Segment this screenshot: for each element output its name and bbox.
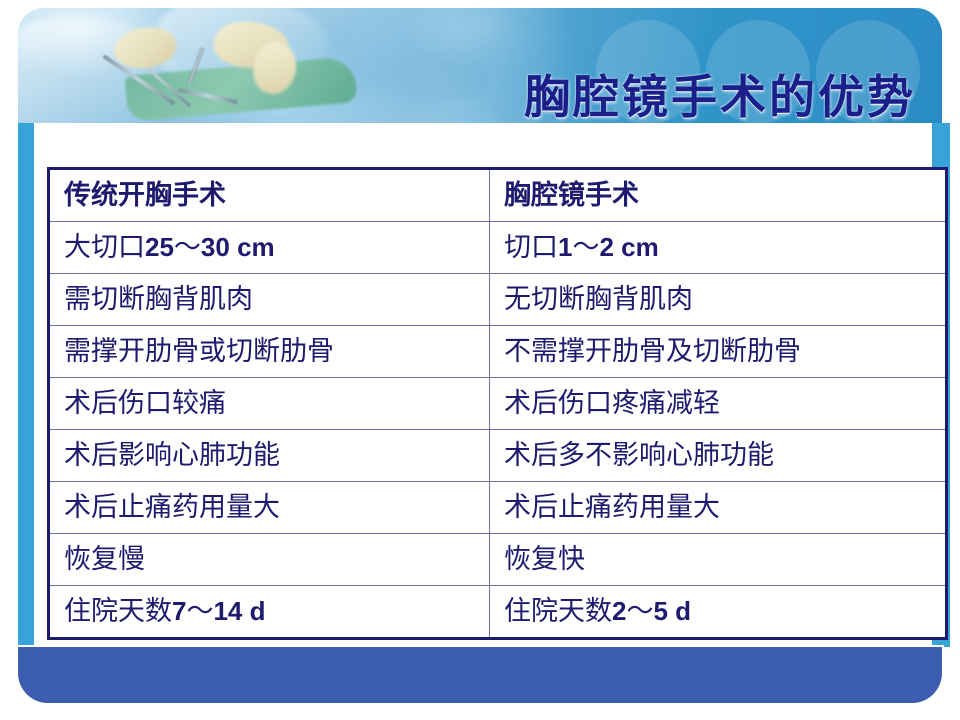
left-accent-strip bbox=[18, 123, 34, 647]
table-row: 术后止痛药用量大 术后止痛药用量大 bbox=[49, 482, 947, 534]
table-row: 术后影响心肺功能 术后多不影响心肺功能 bbox=[49, 430, 947, 482]
table-row: 住院天数7～14 d 住院天数2～5 d bbox=[49, 586, 947, 639]
slide-canvas: 胸腔镜手术的优势 传统开胸手术 胸腔镜手术 大切口25～30 cm 切口1～2 … bbox=[0, 0, 960, 720]
slide-title: 胸腔镜手术的优势 bbox=[524, 61, 916, 123]
measurement-value: 2 cm bbox=[599, 232, 658, 262]
cell-scope-incision-size: 切口1～2 cm bbox=[490, 222, 947, 274]
cell-scope-hospital-stay: 住院天数2～5 d bbox=[490, 586, 947, 639]
slide-footer-bar bbox=[18, 647, 942, 703]
measurement-value: 7 bbox=[172, 596, 186, 626]
table-row: 恢复慢 恢复快 bbox=[49, 534, 947, 586]
table-row: 需撑开肋骨或切断肋骨 不需撑开肋骨及切断肋骨 bbox=[49, 326, 947, 378]
cell-scope-wound-pain: 术后伤口疼痛减轻 bbox=[490, 378, 947, 430]
table-row: 需切断胸背肌肉 无切断胸背肌肉 bbox=[49, 274, 947, 326]
measurement-value: 2 bbox=[612, 596, 626, 626]
table-row: 术后伤口较痛 术后伤口疼痛减轻 bbox=[49, 378, 947, 430]
measurement-value: 14 d bbox=[213, 596, 265, 626]
cell-scope-rib-spreading: 不需撑开肋骨及切断肋骨 bbox=[490, 326, 947, 378]
column-header-thoracoscopic-surgery: 胸腔镜手术 bbox=[490, 169, 947, 222]
cell-scope-muscle-cutting: 无切断胸背肌肉 bbox=[490, 274, 947, 326]
surgery-photo bbox=[18, 8, 578, 123]
cell-scope-analgesic-use: 术后止痛药用量大 bbox=[490, 482, 947, 534]
slide-header-banner: 胸腔镜手术的优势 bbox=[18, 8, 942, 123]
comparison-table-body: 传统开胸手术 胸腔镜手术 大切口25～30 cm 切口1～2 cm 需切断胸背肌… bbox=[49, 169, 947, 639]
cell-open-cardiopulmonary: 术后影响心肺功能 bbox=[49, 430, 490, 482]
measurement-value: 5 d bbox=[653, 596, 691, 626]
cell-open-rib-spreading: 需撑开肋骨或切断肋骨 bbox=[49, 326, 490, 378]
cell-open-incision-size: 大切口25～30 cm bbox=[49, 222, 490, 274]
cell-open-recovery-speed: 恢复慢 bbox=[49, 534, 490, 586]
comparison-table: 传统开胸手术 胸腔镜手术 大切口25～30 cm 切口1～2 cm 需切断胸背肌… bbox=[47, 167, 948, 640]
cell-scope-recovery-speed: 恢复快 bbox=[490, 534, 947, 586]
cell-open-hospital-stay: 住院天数7～14 d bbox=[49, 586, 490, 639]
column-header-open-surgery: 传统开胸手术 bbox=[49, 169, 490, 222]
cell-open-muscle-cutting: 需切断胸背肌肉 bbox=[49, 274, 490, 326]
measurement-value: 25 bbox=[145, 232, 174, 262]
measurement-value: 1 bbox=[558, 232, 572, 262]
table-header-row: 传统开胸手术 胸腔镜手术 bbox=[49, 169, 947, 222]
cell-open-wound-pain: 术后伤口较痛 bbox=[49, 378, 490, 430]
table-row: 大切口25～30 cm 切口1～2 cm bbox=[49, 222, 947, 274]
cell-scope-cardiopulmonary: 术后多不影响心肺功能 bbox=[490, 430, 947, 482]
measurement-value: 30 cm bbox=[201, 232, 275, 262]
cell-open-analgesic-use: 术后止痛药用量大 bbox=[49, 482, 490, 534]
